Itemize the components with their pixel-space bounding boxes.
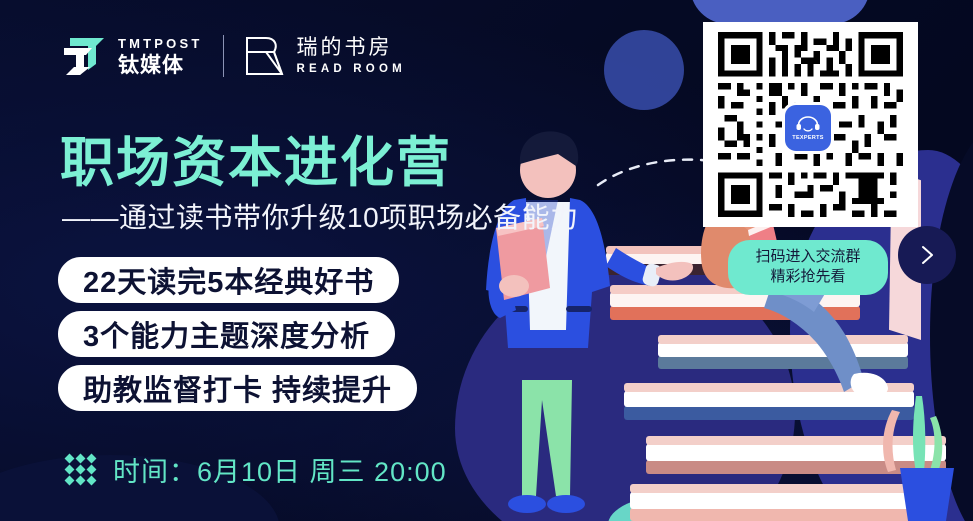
feature-pill: 22天读完5本经典好书: [58, 257, 399, 303]
carousel-next-button[interactable]: [898, 226, 956, 284]
headset-icon: [795, 116, 821, 134]
readroom-english: READ ROOM: [297, 64, 406, 76]
blue-bar-shape: [690, 0, 870, 24]
tmtpost-english: TMTPOST: [118, 37, 203, 50]
logo-divider: [223, 35, 224, 77]
feature-pill: 3个能力主题深度分析: [58, 311, 395, 357]
event-time-row: 时间：6月10日 周三 20:00: [66, 450, 447, 489]
event-time-text: 时间：6月10日 周三 20:00: [113, 450, 447, 489]
dot-grid-icon: [66, 455, 95, 484]
qr-caption-line2: 精彩抢先看: [740, 267, 876, 287]
tmtpost-logo-mark: [62, 34, 108, 78]
tmtpost-logo[interactable]: TMTPOST 钛媒体: [62, 34, 203, 78]
qr-caption: 扫码进入交流群 精彩抢先看: [728, 240, 888, 295]
qr-caption-line1: 扫码进入交流群: [740, 247, 876, 267]
subheadline: ——通过读书带你升级10项职场必备能力: [62, 196, 579, 236]
tmtpost-chinese: 钛媒体: [118, 55, 203, 76]
headline: 职场资本进化营: [60, 118, 452, 197]
readroom-logo-mark: [244, 35, 284, 77]
feature-pill-list: 22天读完5本经典好书 3个能力主题深度分析 助教监督打卡 持续提升: [58, 257, 417, 411]
chevron-right-icon: [916, 244, 938, 266]
feature-pill: 助教监督打卡 持续提升: [58, 365, 417, 411]
readroom-logo[interactable]: 瑞的书房 READ ROOM: [244, 35, 406, 77]
brand-logos: TMTPOST 钛媒体 瑞的书房 READ ROOM: [62, 34, 406, 78]
qr-center-logo: TEXPERTS: [785, 105, 831, 151]
qr-center-logo-text: TEXPERTS: [792, 135, 823, 141]
promo-banner: TMTPOST 钛媒体 瑞的书房 READ ROOM 职场资本进化营 ——通过读…: [0, 0, 973, 521]
readroom-chinese: 瑞的书房: [297, 37, 406, 58]
